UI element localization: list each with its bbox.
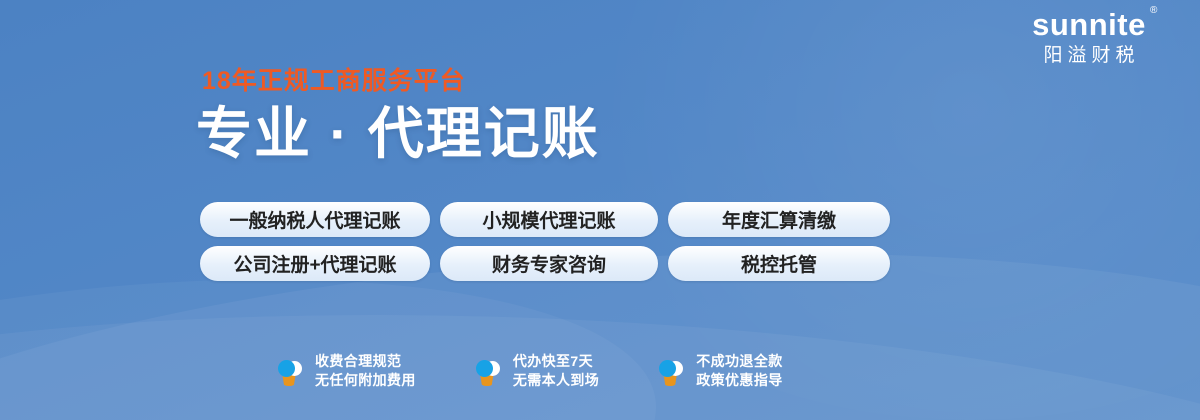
logo-chinese-name: 阳溢财税: [994, 44, 1184, 68]
service-pill-expert-consulting[interactable]: 财务专家咨询: [440, 246, 658, 281]
brand-logo[interactable]: sunnite ® 阳溢财税: [994, 8, 1184, 68]
feature-text-speed: 代办快至7天 无需本人到场: [513, 352, 599, 390]
feature-text-guarantee: 不成功退全款 政策优惠指导: [696, 352, 782, 390]
promo-banner: sunnite ® 阳溢财税 18年正规工商服务平台 专业 · 代理记账 一般纳…: [0, 0, 1200, 420]
service-pill-general-taxpayer[interactable]: 一般纳税人代理记账: [200, 202, 430, 237]
service-pill-small-scale[interactable]: 小规模代理记账: [440, 202, 658, 237]
feature-line-2: 无需本人到场: [513, 371, 599, 390]
registered-trademark-icon: ®: [1150, 6, 1158, 16]
logo-wordmark: sunnite ®: [1032, 8, 1146, 42]
feature-line-1: 代办快至7天: [513, 352, 599, 371]
service-pill-group: 一般纳税人代理记账 小规模代理记账 年度汇算清缴 公司注册+代理记账 财务专家咨…: [200, 202, 890, 290]
service-pill-company-registration[interactable]: 公司注册+代理记账: [200, 246, 430, 281]
background-swoosh-lower: [0, 282, 1200, 420]
feature-line-2: 无任何附加费用: [315, 371, 416, 390]
hero-text-block: 18年正规工商服务平台 专业 · 代理记账: [196, 66, 600, 166]
feature-list: 收费合理规范 无任何附加费用 代办快至7天 无需本人到场 不成功退全款: [276, 352, 783, 390]
service-pill-tax-control-custody[interactable]: 税控托管: [668, 246, 890, 281]
service-pill-row-1: 一般纳税人代理记账 小规模代理记账 年度汇算清缴: [200, 202, 890, 237]
sun-cup-icon: [657, 355, 687, 387]
feature-item-speed: 代办快至7天 无需本人到场: [474, 352, 599, 390]
hero-eyebrow: 18年正规工商服务平台: [202, 66, 600, 96]
hero-title: 专业 · 代理记账: [196, 102, 600, 166]
feature-item-pricing: 收费合理规范 无任何附加费用: [276, 352, 416, 390]
feature-line-1: 收费合理规范: [315, 352, 416, 371]
service-pill-annual-settlement[interactable]: 年度汇算清缴: [668, 202, 890, 237]
feature-line-1: 不成功退全款: [696, 352, 782, 371]
feature-line-2: 政策优惠指导: [696, 371, 782, 390]
sun-cup-icon: [276, 355, 306, 387]
service-pill-row-2: 公司注册+代理记账 财务专家咨询 税控托管: [200, 246, 890, 281]
feature-item-guarantee: 不成功退全款 政策优惠指导: [657, 352, 782, 390]
feature-text-pricing: 收费合理规范 无任何附加费用: [315, 352, 416, 390]
logo-wordmark-text: sunnite: [1032, 7, 1146, 42]
sun-cup-icon: [474, 355, 504, 387]
